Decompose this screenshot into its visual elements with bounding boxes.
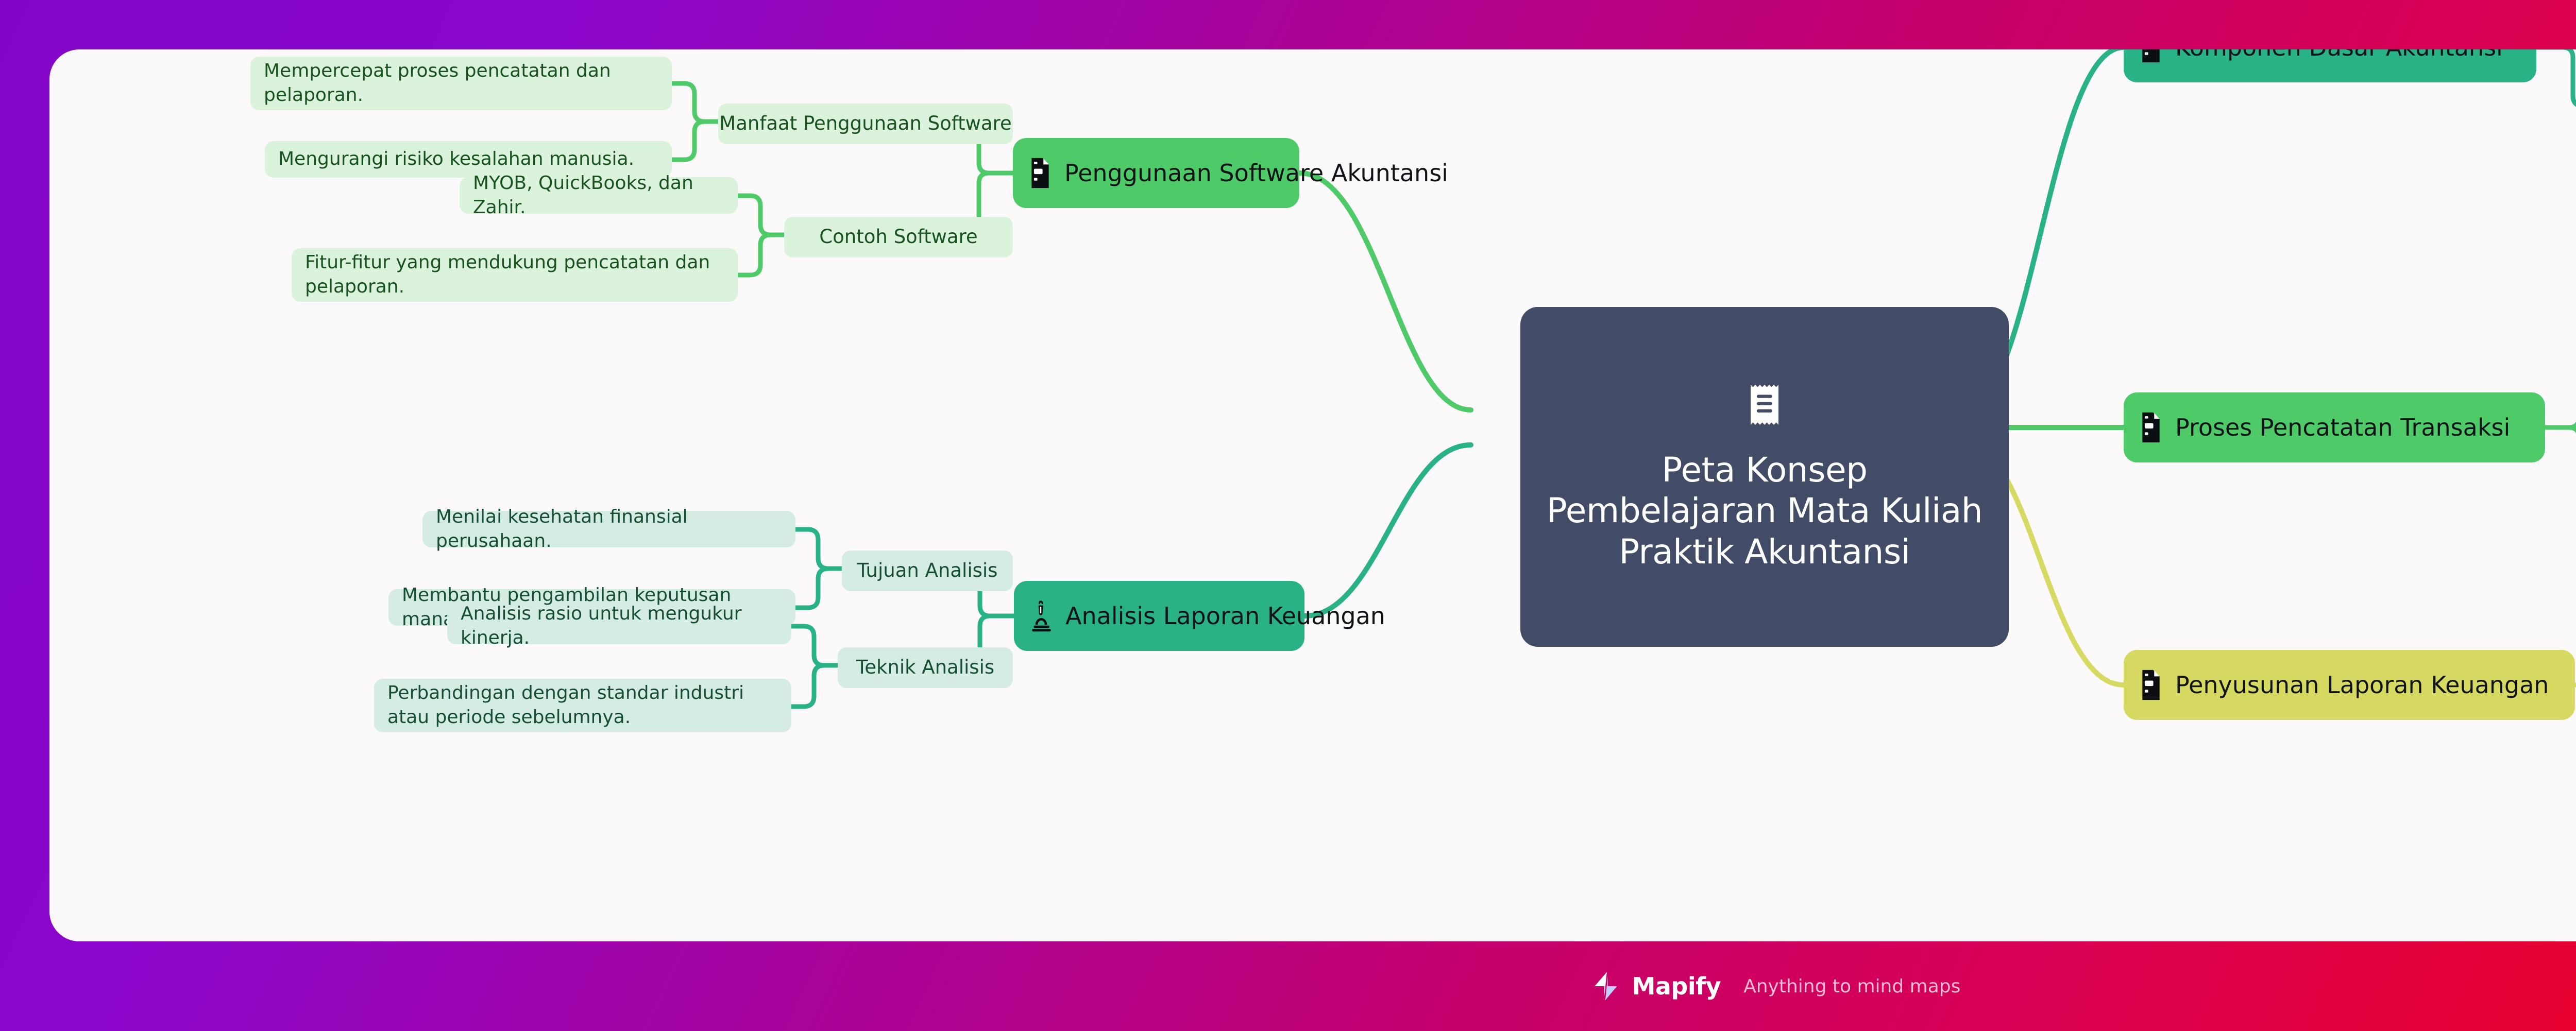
branch-node-analisis-laporan-keuangan[interactable]: Analisis Laporan Keuangan	[1014, 581, 1304, 651]
leaf-label: Mempercepat proses pencatatan dan pelapo…	[264, 59, 658, 108]
branch-label: Proses Pencatatan Transaksi	[2175, 414, 2510, 441]
sub-node-label: Teknik Analisis	[856, 656, 994, 680]
branch-node-penggunaan-software-akuntansi[interactable]: Penggunaan Software Akuntansi	[1013, 138, 1299, 208]
root-title: Peta Konsep Pembelajaran Mata Kuliah Pra…	[1543, 450, 1986, 572]
sub-node-manfaat-penggunaan-software[interactable]: Manfaat Penggunaan Software	[718, 104, 1013, 144]
root-node[interactable]: Peta Konsep Pembelajaran Mata Kuliah Pra…	[1520, 307, 2009, 647]
leaf-label: Analisis rasio untuk mengukur kinerja.	[461, 602, 778, 650]
leaf-label: Mengurangi risiko kesalahan manusia.	[278, 147, 634, 171]
sub-node-label: Tujuan Analisis	[857, 559, 998, 583]
leaf-node[interactable]: Fitur-fitur yang mendukung pencatatan da…	[292, 248, 738, 302]
sub-node-label: Manfaat Penggunaan Software	[719, 112, 1011, 136]
leaf-node[interactable]: Perbandingan dengan standar industri ata…	[374, 679, 791, 732]
branch-label: Penggunaan Software Akuntansi	[1064, 159, 1448, 187]
branch-label: Penyusunan Laporan Keuangan	[2175, 671, 2549, 699]
leaf-label: Perbandingan dengan standar industri ata…	[387, 681, 778, 730]
leaf-node[interactable]: Mempercepat proses pencatatan dan pelapo…	[250, 57, 672, 110]
branch-node-proses-pencatatan-transaksi[interactable]: Proses Pencatatan Transaksi	[2124, 392, 2545, 462]
brand-name: Mapify	[1632, 972, 1721, 1000]
branch-node-komponen-dasar-akuntansi[interactable]: Komponen Dasar Akuntansi	[2124, 49, 2536, 82]
brand-footer: Mapify Anything to mind maps	[0, 963, 2576, 1009]
branch-node-penyusunan-laporan-keuangan[interactable]: Penyusunan Laporan Keuangan	[2124, 650, 2575, 720]
sub-node-contoh-software[interactable]: Contoh Software	[784, 217, 1013, 257]
leaf-node[interactable]: MYOB, QuickBooks, dan Zahir.	[460, 177, 738, 214]
sub-node-tujuan-analisis[interactable]: Tujuan Analisis	[842, 551, 1013, 591]
leaf-label: Menilai kesehatan finansial perusahaan.	[436, 505, 782, 554]
document-icon	[2138, 411, 2164, 444]
document-icon	[2138, 668, 2164, 701]
lightning-bolt-icon	[1591, 971, 1621, 1001]
document-icon	[2138, 49, 2164, 64]
leaf-label: MYOB, QuickBooks, dan Zahir.	[473, 171, 724, 220]
leaf-node[interactable]: Menilai kesehatan finansial perusahaan.	[422, 511, 795, 547]
leaf-label: Fitur-fitur yang mendukung pencatatan da…	[305, 251, 724, 299]
brand-tagline: Anything to mind maps	[1743, 976, 1960, 997]
sub-node-teknik-analisis[interactable]: Teknik Analisis	[838, 647, 1013, 688]
microscope-icon	[1028, 599, 1054, 632]
branch-label: Analisis Laporan Keuangan	[1065, 602, 1385, 630]
branch-label: Komponen Dasar Akuntansi	[2175, 49, 2503, 61]
receipt-icon	[1746, 382, 1783, 431]
leaf-node[interactable]: Analisis rasio untuk mengukur kinerja.	[447, 608, 791, 644]
mindmap-canvas[interactable]: Peta Konsep Pembelajaran Mata Kuliah Pra…	[49, 49, 2576, 941]
sub-node-label: Contoh Software	[819, 225, 977, 249]
document-icon	[1027, 157, 1053, 190]
